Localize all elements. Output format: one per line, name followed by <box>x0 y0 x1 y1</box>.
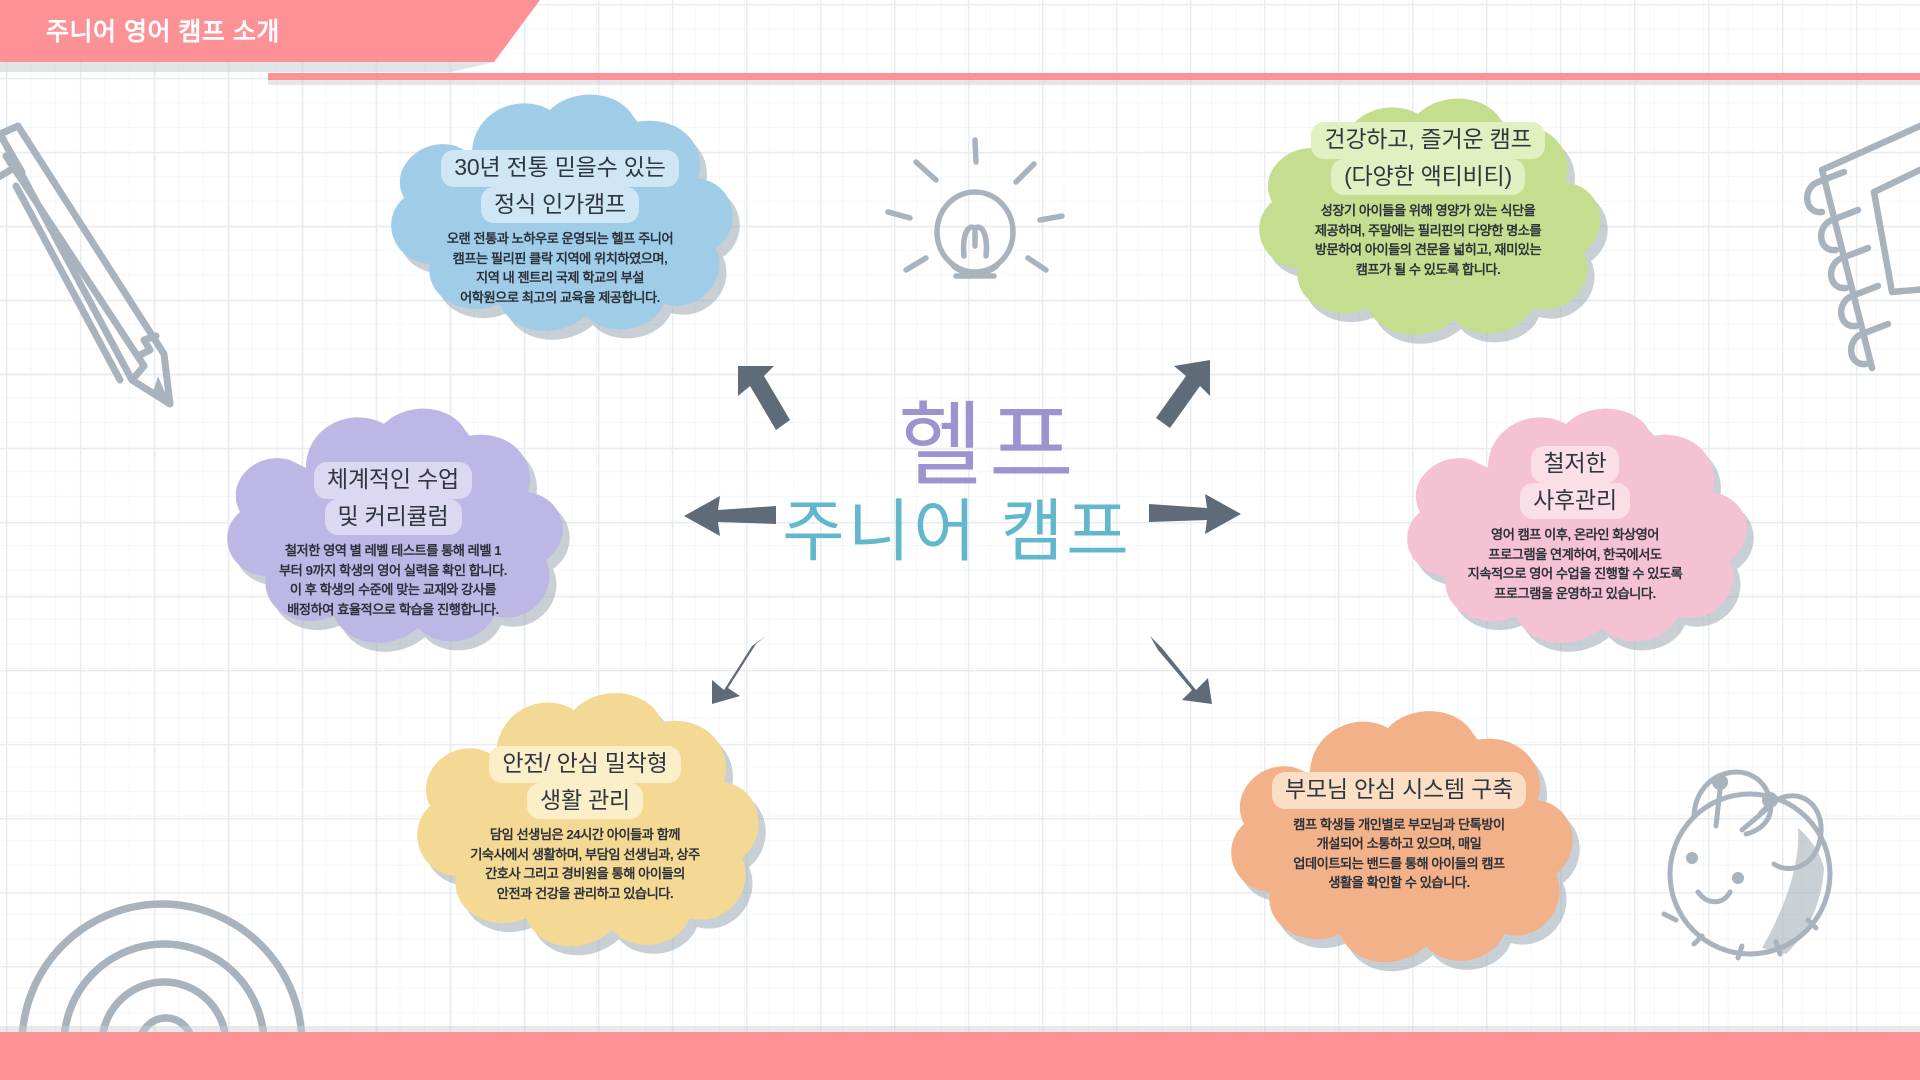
cloud-card-tradition[interactable]: 30년 전통 믿을수 있는 정식 인가캠프 오랜 전통과 노하우로 운영되는 헬… <box>352 92 768 348</box>
cloud-shape <box>1222 98 1634 352</box>
cloud-card-aftercare[interactable]: 철저한 사후관리 영어 캠프 이후, 온라인 화상영어 프로그램을 연계하여, … <box>1370 408 1780 660</box>
cloud-card-safety[interactable]: 안전/ 안심 밀착형 생활 관리 담임 선생님은 24시간 아이들과 함께 기숙… <box>378 690 792 966</box>
cloud-shape <box>352 92 768 348</box>
brand-line-2: 주니어 캠프 <box>734 498 1180 567</box>
cloud-shape <box>1190 710 1608 982</box>
notebook-doodle <box>1800 96 1920 386</box>
arrow-down-right <box>1142 628 1222 712</box>
header-rule-shadow <box>268 80 1920 85</box>
center-brand: 헬프 주니어 캠프 <box>760 400 1180 567</box>
lightbulb-doodle <box>880 128 1070 288</box>
page-title: 주니어 영어 캠프 소개 <box>46 12 280 48</box>
bottom-bar <box>0 1032 1920 1080</box>
bee-doodle <box>1650 742 1900 982</box>
page-background: 헬프 주니어 캠프 30년 전통 믿을수 있는 정식 인가캠프 오랜 전통과 노… <box>0 0 1920 1080</box>
cloud-shape <box>190 410 596 660</box>
cloud-card-parent-system[interactable]: 부모님 안심 시스템 구축 캠프 학생들 개인별로 부모님과 단톡방이 개설되어… <box>1190 710 1608 982</box>
cloud-card-healthy-fun[interactable]: 건강하고, 즐거운 캠프 (다양한 액티비티) 성장기 아이들을 위해 영양가 … <box>1222 98 1634 352</box>
cloud-shape <box>1370 408 1780 660</box>
header-ribbon-shadow <box>0 62 545 72</box>
header-ribbon: 주니어 영어 캠프 소개 <box>0 0 540 62</box>
cloud-shape <box>378 690 792 966</box>
cloud-card-curriculum[interactable]: 체계적인 수업 및 커리큘럼 철저한 영역 별 레벨 테스트를 통해 레벨 1 … <box>190 410 596 660</box>
brand-line-1: 헬프 <box>798 400 1180 494</box>
header-rule <box>268 73 1920 80</box>
rainbow-doodle <box>30 896 330 1044</box>
pencil-doodle <box>0 104 222 434</box>
